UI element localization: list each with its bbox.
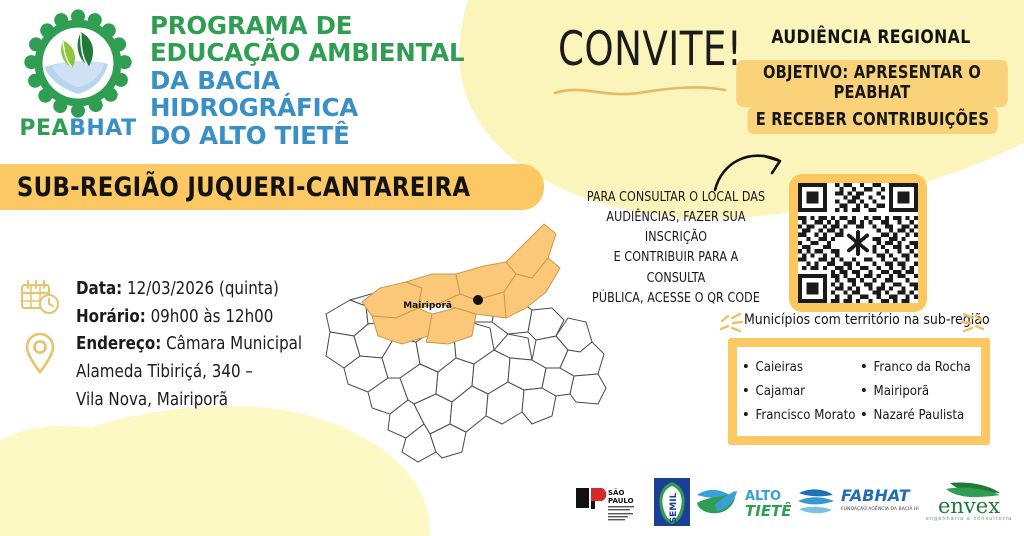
list-item: Mairiporã [859,379,972,403]
logo-word-pea: PEA [19,116,69,141]
sparkle-rays-right-icon [960,310,988,338]
event-date-label: Data: [76,279,122,299]
list-item: Francisco Morato [741,403,855,427]
semil-logo-text: SEMIL [669,492,679,523]
event-address-label: Endereço: [76,334,161,354]
qr-code-image[interactable] [798,183,918,303]
event-time-value: 09h00 às 12h00 [151,307,274,327]
event-address-value: Câmara Municipal [166,334,302,354]
municipalities-column-right: Franco da Rocha Mairiporã Nazaré Paulist… [859,355,975,427]
qr-instruction-line-2: AUDIÊNCIAS, FAZER SUA INSCRIÇÃO [583,208,769,248]
map-location-marker [473,295,483,305]
alto-tiete-basin-map-icon: Mairiporã [320,196,610,466]
subregion-map: Mairiporã [320,196,610,466]
subregion-banner: SUB-REGIÃO JUQUERI-CANTAREIRA [0,164,544,210]
map-pin-icon [24,332,56,374]
event-date-row: Data: 12/03/2026 (quinta) [76,276,302,304]
curved-arrow-icon [712,146,792,194]
map-highlight-label: Mairiporã [403,301,452,311]
list-item: Nazaré Paulista [859,403,972,427]
program-title: PROGRAMA DE EDUCAÇÃO AMBIENTAL DA BACIA … [150,12,480,149]
alto-tiete-logo-icon: ALTO TIETÊ [693,481,791,523]
peabhat-wordmark: PEABHAT [14,116,142,141]
peabhat-logo: PEABHAT [14,8,142,150]
objective-line-2: E RECEBER CONTRIBUIÇÕES [747,107,997,134]
calendar-clock-icon [20,280,60,316]
alto-tiete-logo: ALTO TIETÊ [693,481,791,523]
objective-block: OBJETIVO: APRESENTAR O PEABHAT E RECEBER… [726,60,1018,134]
subregion-banner-label: SUB-REGIÃO JUQUERI-CANTAREIRA [0,172,470,203]
municipalities-column-left: Caieiras Cajamar Francisco Morato [741,355,859,427]
municipalities-box: Caieiras Cajamar Francisco Morato Franco… [728,338,990,445]
footer-logo-strip: SÃO PAULO SEMIL ALTO [576,476,1016,528]
audience-title: AUDIÊNCIA REGIONAL [738,26,1005,48]
municipalities-inner: Caieiras Cajamar Francisco Morato Franco… [737,347,981,436]
program-title-line-3: DA BACIA HIDROGRÁFICA [150,67,480,122]
event-text-block: Data: 12/03/2026 (quinta) Horário: 09h00… [76,276,302,414]
peabhat-leaf-water-ring-icon [22,8,134,120]
qr-instruction-line-4: PÚBLICA, ACESSE O QR CODE [583,289,769,309]
event-details: Data: 12/03/2026 (quinta) Horário: 09h00… [14,276,312,414]
invite-heading: CONVITE! [558,22,742,77]
envex-logo-icon: envex engenharia e consultoria [922,480,1016,524]
event-time-row: Horário: 09h00 às 12h00 [76,304,302,332]
list-item: Caieiras [741,355,855,379]
event-icon-column [14,276,66,414]
event-date-value: 12/03/2026 (quinta) [127,279,279,299]
sao-paulo-logo-text-2: PAULO [608,497,634,505]
qr-code-matrix [798,183,918,303]
program-title-line-2: EDUCAÇÃO AMBIENTAL [150,39,480,66]
qr-code-card[interactable] [789,174,927,312]
fabhat-logo-icon: FABHAT FUNDAÇÃO AGÊNCIA DA BACIA HIDROGR… [795,481,919,523]
event-time-label: Horário: [76,307,146,327]
event-address-line-2: Alameda Tibiriçá, 340 – [76,359,302,387]
fabhat-logo: FABHAT FUNDAÇÃO AGÊNCIA DA BACIA HIDROGR… [795,481,919,523]
squiggle-underline-icon [552,82,728,100]
logo-word-bhat: BHAT [69,116,137,141]
sao-paulo-government-logo-icon: SÃO PAULO [576,480,650,524]
sao-paulo-government-logo: SÃO PAULO [576,480,650,524]
fabhat-logo-subtitle: FUNDAÇÃO AGÊNCIA DA BACIA HIDROGRÁFICA D… [841,504,919,512]
list-item: Franco da Rocha [859,355,972,379]
program-title-line-1: PROGRAMA DE [150,12,480,39]
semil-logo-icon: SEMIL [654,478,690,526]
sparkle-rays-left-icon [716,310,744,338]
alto-tiete-logo-text-2: TIETÊ [745,501,791,520]
sao-paulo-logo-text-1: SÃO [608,488,624,497]
invitation-poster: PEABHAT PROGRAMA DE EDUCAÇÃO AMBIENTAL D… [0,0,1024,536]
municipalities-heading: Municípios com território na sub-região [744,312,990,328]
envex-logo-subtitle: engenharia e consultoria [926,516,1012,522]
list-item: Cajamar [741,379,855,403]
semil-logo: SEMIL [654,478,690,526]
objective-line-1: OBJETIVO: APRESENTAR O PEABHAT [736,60,1008,107]
fabhat-logo-text: FABHAT [841,486,911,505]
qr-instruction-text: PARA CONSULTAR O LOCAL DAS AUDIÊNCIAS, F… [583,188,769,309]
event-address-line-3: Vila Nova, Mairiporã [76,387,302,415]
envex-logo: envex engenharia e consultoria [922,480,1016,524]
event-address-row: Endereço: Câmara Municipal [76,331,302,359]
qr-instruction-line-3: E CONTRIBUIR PARA A CONSULTA [583,248,769,288]
envex-logo-text: envex [938,494,1000,518]
program-title-line-4: DO ALTO TIETÊ [150,122,480,149]
